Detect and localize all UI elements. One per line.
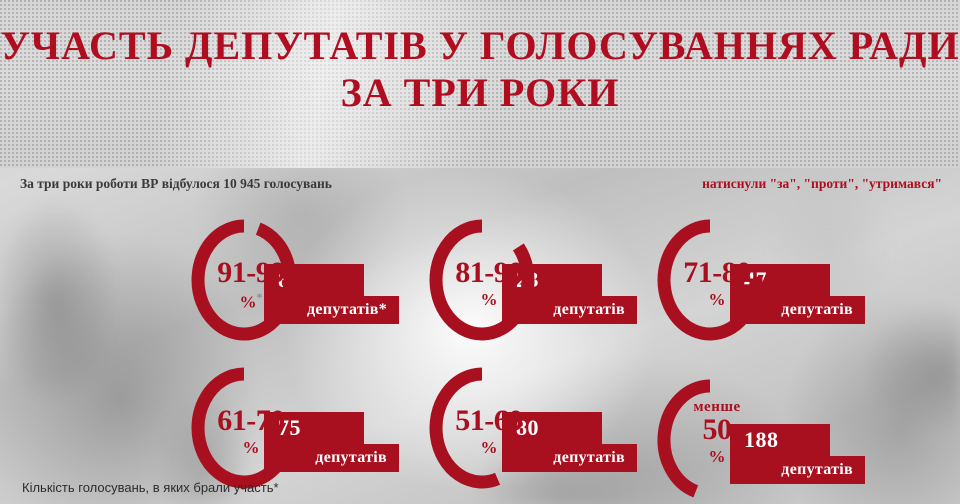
donut-ring [186, 370, 316, 490]
footnote: Кількість голосувань, в яких брали участ… [22, 480, 279, 495]
stat-cell: 47депутатів71-80% [652, 222, 882, 352]
title-line-1: УЧАСТЬ ДЕПУТАТІВ У ГОЛОСУВАННЯХ РАДИ [0, 24, 960, 67]
title-line-2: ЗА ТРИ РОКИ [0, 71, 960, 114]
stat-cell: 188депутатівменше50% [652, 382, 882, 504]
stat-cell: 80депутатів51-60% [424, 370, 654, 500]
stat-cell: 8депутатів*91-99%* [186, 222, 416, 352]
deputy-unit-label: депутатів [315, 449, 399, 467]
caption-left: За три роки роботи ВР відбулося 10 945 г… [20, 176, 332, 192]
donut-ring [652, 222, 782, 342]
donut-ring [652, 382, 782, 502]
donut-ring [424, 370, 554, 490]
deputy-unit-label: депутатів [553, 449, 637, 467]
deputy-unit-label: депутатів [781, 461, 865, 479]
stat-cell: 23депутатів81-90% [424, 222, 654, 352]
deputy-unit-label: депутатів [553, 301, 637, 319]
donut-ring [424, 222, 554, 342]
header-band: УЧАСТЬ ДЕПУТАТІВ У ГОЛОСУВАННЯХ РАДИ ЗА … [0, 0, 960, 168]
page-title: УЧАСТЬ ДЕПУТАТІВ У ГОЛОСУВАННЯХ РАДИ ЗА … [0, 0, 960, 114]
donut-ring [186, 222, 316, 342]
infographic-canvas: УЧАСТЬ ДЕПУТАТІВ У ГОЛОСУВАННЯХ РАДИ ЗА … [0, 0, 960, 504]
deputy-unit-label: депутатів [781, 301, 865, 319]
deputy-unit-label: депутатів* [307, 301, 399, 319]
caption-right: натиснули "за", "проти", "утримався" [702, 176, 942, 192]
